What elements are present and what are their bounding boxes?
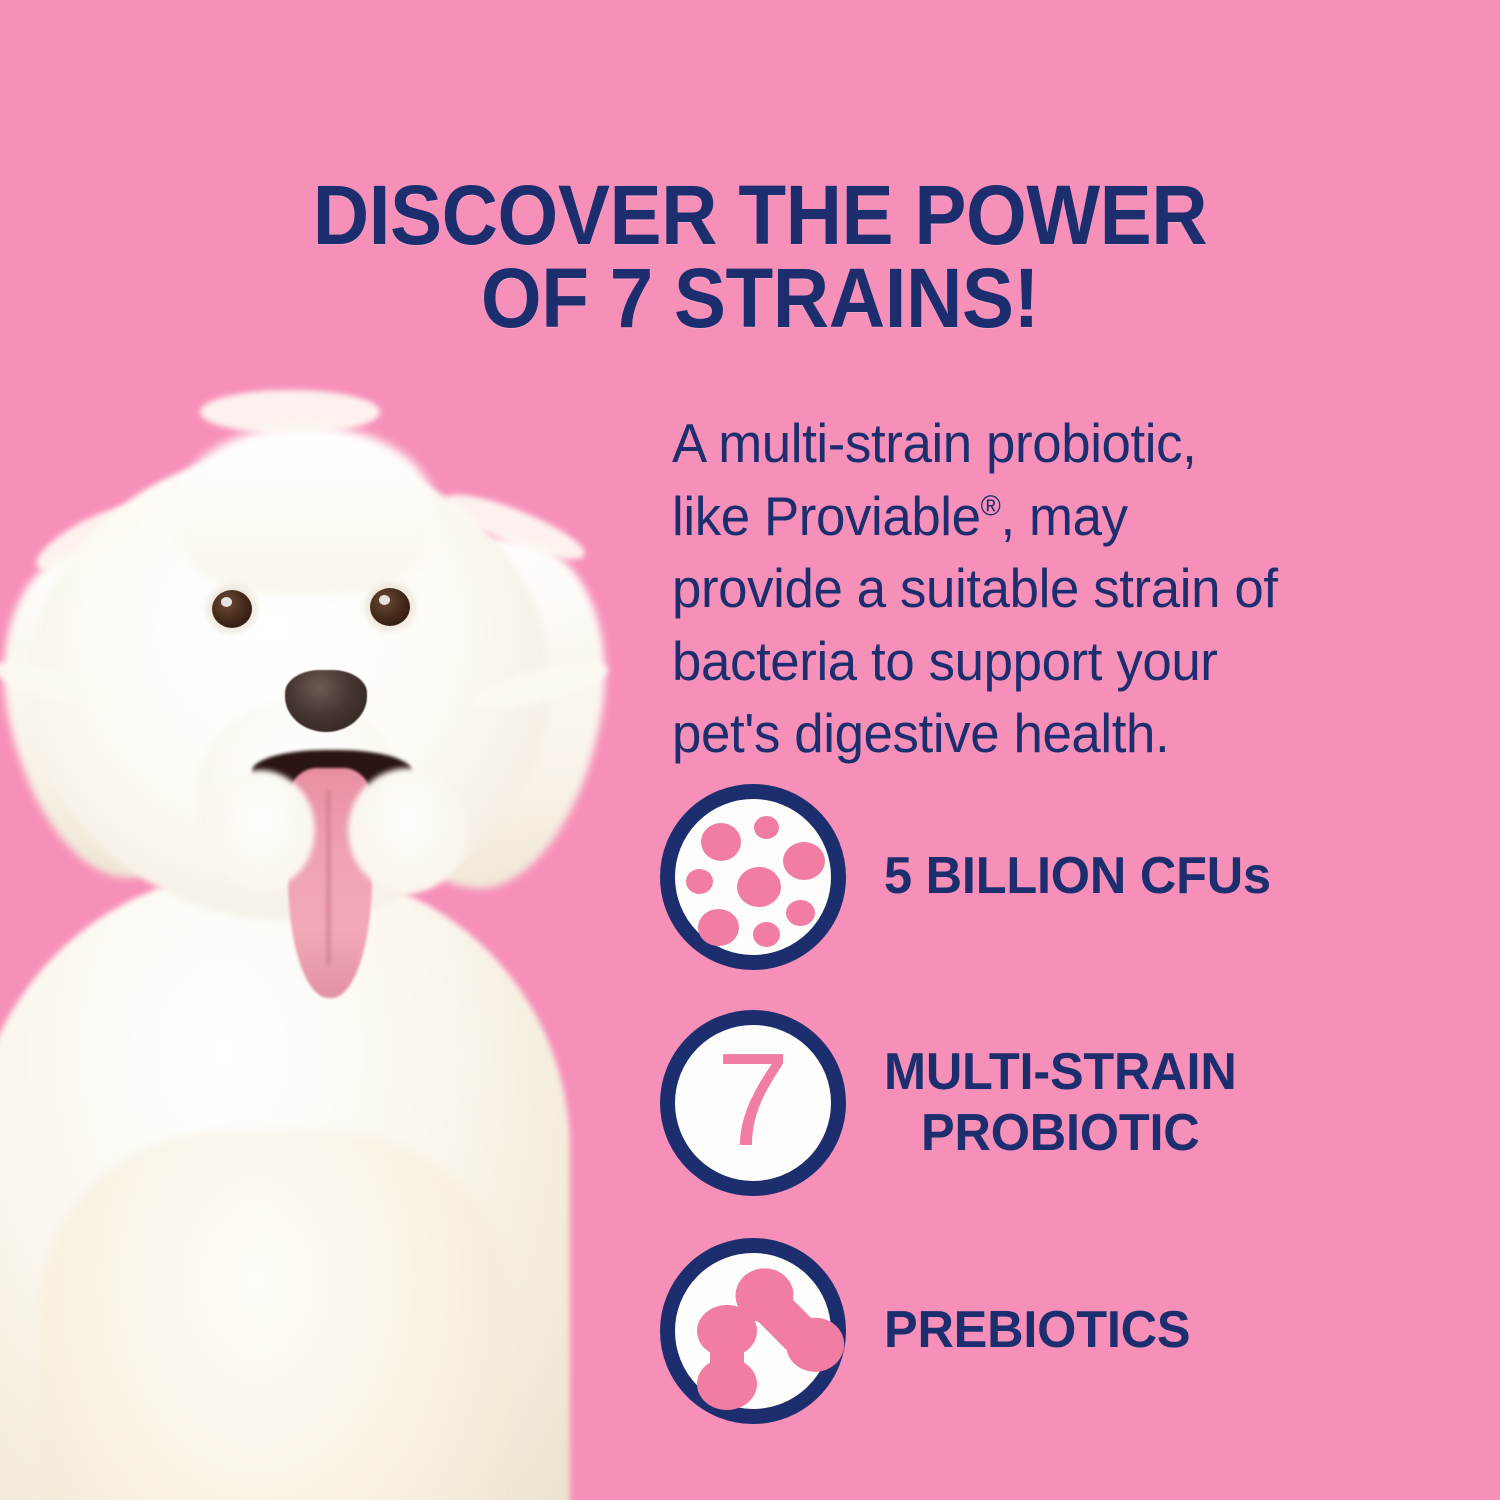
badge-number-seven: 7 (660, 1010, 846, 1196)
dog-photo (0, 370, 640, 1500)
dog-chin-right (348, 768, 468, 893)
bacteria-dot (754, 816, 779, 839)
dog-muzzle (195, 700, 405, 890)
body-line-1: A multi-strain probiotic, (672, 412, 1196, 474)
dog-ear-left (0, 534, 232, 896)
number-seven-icon: 7 (675, 1025, 831, 1181)
dog-tongue (288, 768, 372, 998)
dog-chin-left (205, 770, 315, 890)
dog-eye-right (370, 588, 410, 626)
page-title: DISCOVER THE POWER OF 7 STRAINS! (221, 174, 1300, 340)
dog-mouth (252, 750, 412, 820)
dog-fur-wisp (468, 654, 612, 719)
dog-fur-wisp (200, 390, 380, 434)
feature-item-cfus: 5 BILLION CFUs (660, 784, 1283, 970)
bacteria-dot (686, 869, 713, 894)
promo-graphic: DISCOVER THE POWER OF 7 STRAINS! A multi… (0, 0, 1500, 1500)
feature-label-cfus: 5 BILLION CFUs (884, 846, 1271, 907)
dog-nose (285, 670, 367, 732)
molecule-lobe (785, 1316, 846, 1373)
body-line-5: pet's digestive health. (672, 702, 1169, 764)
bacteria-dot (786, 900, 815, 926)
bacteria-dot (701, 823, 741, 861)
badge-bacteria-dots (660, 784, 846, 970)
feature-label-multistrain: MULTI-STRAIN PROBIOTIC (884, 1042, 1237, 1165)
dog-tongue-crease (326, 790, 331, 965)
bacteria-dots-icon (737, 867, 781, 907)
body-line-2-pre: like Proviable (672, 485, 981, 547)
feature-item-prebiotics: PREBIOTICS (660, 1238, 1200, 1424)
dog-fur-wisp (0, 653, 122, 718)
dog-fur-wisp (439, 483, 591, 571)
bacteria-dot (753, 922, 780, 947)
body-paragraph: A multi-strain probiotic, like Proviable… (672, 407, 1363, 770)
bacteria-dot (783, 842, 825, 880)
dog-chest (40, 1130, 510, 1500)
body-line-3: provide a suitable strain of (672, 557, 1278, 619)
dog-head-tuft (175, 425, 435, 595)
body-line-2-post: , may (1000, 485, 1127, 547)
dog-ear-right (371, 525, 629, 904)
prebiotic-molecule-icon (734, 1264, 848, 1381)
bacteria-dot (698, 909, 739, 946)
registered-mark: ® (981, 490, 1001, 522)
feature-label-prebiotics: PREBIOTICS (884, 1300, 1190, 1361)
body-line-4: bacteria to support your (672, 630, 1218, 692)
feature-item-multistrain: 7 MULTI-STRAIN PROBIOTIC (660, 1010, 1247, 1196)
dog-body (0, 870, 570, 1500)
dog-eye-left (212, 590, 252, 628)
dog-fur-wisp (29, 494, 152, 582)
dog-head (30, 450, 550, 920)
badge-prebiotic-molecules (660, 1238, 846, 1424)
